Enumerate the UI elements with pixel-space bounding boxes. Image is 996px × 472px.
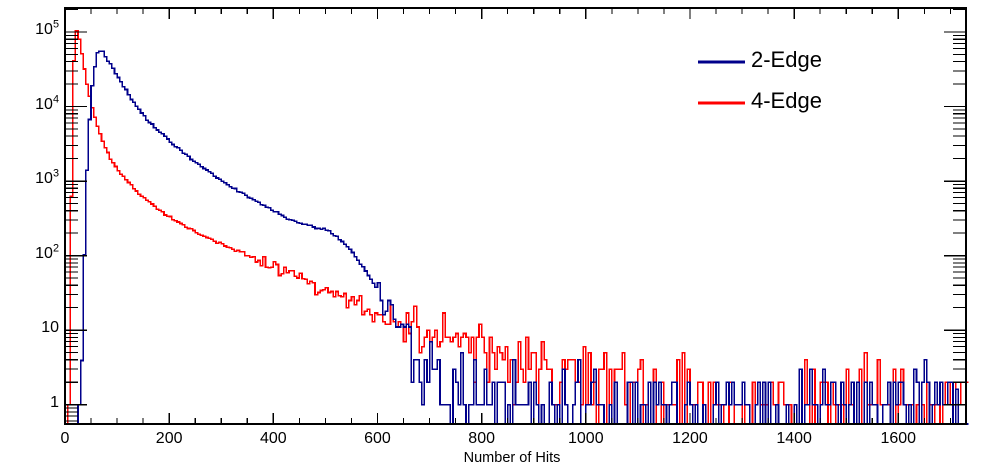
y-tick-label: 103 xyxy=(35,170,59,188)
x-tick-label: 800 xyxy=(468,430,495,448)
legend xyxy=(698,62,745,103)
y-tick-label: 1 xyxy=(50,394,59,412)
series-line-4-edge xyxy=(65,31,969,424)
x-tick-label: 1600 xyxy=(880,430,916,448)
y-tick-label: 102 xyxy=(35,245,59,263)
x-tick-label: 1200 xyxy=(672,430,708,448)
chart-svg xyxy=(0,0,996,472)
x-tick-label: 1000 xyxy=(568,430,604,448)
legend-label-2-edge: 2-Edge xyxy=(751,47,822,73)
plot-canvas: 0200400600800100012001400160011010210310… xyxy=(0,0,996,472)
series-line-2-edge xyxy=(65,51,969,424)
x-tick-label: 200 xyxy=(156,430,183,448)
y-tick-label: 105 xyxy=(35,21,59,39)
x-tick-label: 600 xyxy=(364,430,391,448)
x-tick-label: 0 xyxy=(61,430,70,448)
y-tick-label: 10 xyxy=(41,319,59,337)
x-tick-label: 400 xyxy=(260,430,287,448)
legend-label-4-edge: 4-Edge xyxy=(751,88,822,114)
y-tick-label: 104 xyxy=(35,96,59,114)
x-tick-label: 1400 xyxy=(776,430,812,448)
x-axis-title: Number of Hits xyxy=(464,450,561,466)
